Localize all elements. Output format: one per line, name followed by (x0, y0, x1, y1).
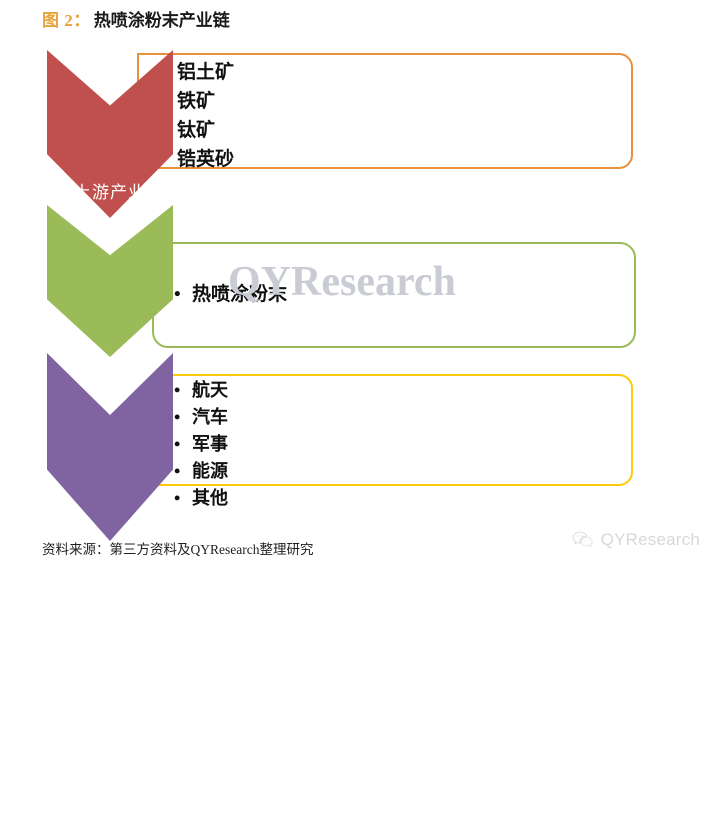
stage-label-downstream: 下游产业 (47, 791, 173, 816)
figure-canvas: 图 2：热喷涂粉末产业链 QYResearch 上游产业 产品 下游产业 铝土矿… (0, 0, 712, 572)
list-item: 钛矿 (157, 116, 623, 145)
list-item: 热喷涂粉末 (172, 280, 287, 310)
list-item: 锆英砂 (157, 145, 623, 174)
stage-items-inner-downstream: 航天 汽车 军事 能源 其他 (172, 376, 623, 484)
stage-chevron-upstream: 上游产业 (47, 50, 173, 218)
list-item: 其他 (172, 485, 623, 512)
stage-items-inner-product: 热喷涂粉末 (172, 244, 626, 346)
chevron-shape-downstream (47, 353, 173, 541)
stage-items-box-product: 热喷涂粉末 (152, 242, 636, 348)
stage-items-box-upstream: 铝土矿 铁矿 钛矿 锆英砂 (137, 53, 633, 169)
list-item: 铁矿 (157, 87, 623, 116)
figure-title: 热喷涂粉末产业链 (94, 11, 230, 30)
list-item: 能源 (172, 458, 623, 485)
brand-watermark: QYResearch (572, 530, 700, 550)
figure-title-row: 图 2：热喷涂粉末产业链 (42, 12, 230, 30)
figure-number: 图 2： (42, 11, 91, 30)
item-list-downstream: 航天 汽车 军事 能源 其他 (172, 377, 623, 512)
list-item: 军事 (172, 431, 623, 458)
stage-chevron-downstream: 下游产业 (47, 353, 173, 541)
wechat-icon (572, 531, 594, 549)
stage-label-upstream: 上游产业 (47, 178, 173, 203)
list-item: 航天 (172, 377, 623, 404)
chevron-shape-product (47, 205, 173, 357)
stage-items-inner-upstream: 铝土矿 铁矿 钛矿 锆英砂 (157, 55, 623, 167)
item-list-upstream: 铝土矿 铁矿 钛矿 锆英砂 (157, 58, 623, 174)
list-item: 汽车 (172, 404, 623, 431)
item-list-product: 热喷涂粉末 (172, 280, 287, 310)
list-item: 铝土矿 (157, 58, 623, 87)
brand-name: QYResearch (601, 530, 700, 550)
stage-chevron-product: 产品 (47, 205, 173, 357)
source-note: 资料来源：第三方资料及QYResearch整理研究 (42, 538, 313, 558)
stage-items-box-downstream: 航天 汽车 军事 能源 其他 (152, 374, 633, 486)
